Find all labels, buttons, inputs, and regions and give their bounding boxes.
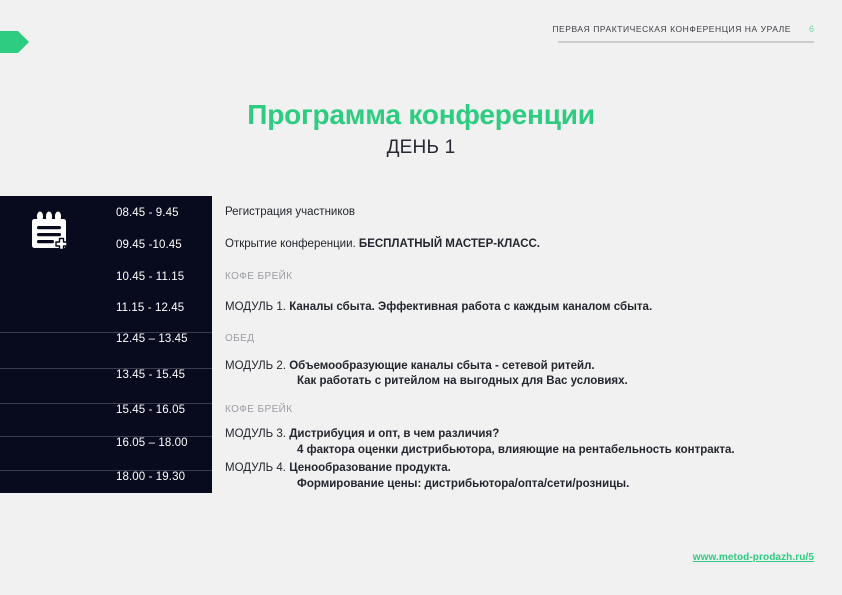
row-time: 09.45 -10.45	[0, 239, 212, 251]
row-description: МОДУЛЬ 1. Каналы сбыта. Эффективная рабо…	[212, 300, 830, 316]
row-time: 08.45 - 9.45	[0, 207, 212, 219]
row-second-line: Как работать с ритейлом на выгодных для …	[225, 374, 830, 390]
row-time: 13.45 - 15.45	[0, 368, 212, 381]
header-row: ПЕРВАЯ ПРАКТИЧЕСКАЯ КОНФЕРЕНЦИЯ НА УРАЛЕ…	[558, 24, 814, 34]
row-description: КОФЕ БРЕЙК	[212, 402, 830, 418]
table-row: 13.45 - 15.45 МОДУЛЬ 2. Объемообразующие…	[0, 354, 830, 394]
slide-header: ПЕРВАЯ ПРАКТИЧЕСКАЯ КОНФЕРЕНЦИЯ НА УРАЛЕ…	[558, 24, 814, 43]
table-row: 10.45 - 11.15 КОФЕ БРЕЙК	[0, 261, 830, 292]
table-row: 18.00 - 19.30 МОДУЛЬ 4. Ценообразование …	[0, 460, 830, 493]
row-plain: Регистрация участников	[225, 206, 355, 218]
table-row: 12.45 – 13.45 ОБЕД	[0, 323, 830, 354]
slide-page-number: 6	[809, 24, 814, 34]
title-block: Программа конференции ДЕНЬ 1	[0, 100, 842, 159]
row-strong: Дистрибуция и опт, в чем различия?	[289, 428, 499, 440]
row-lead: Открытие конференции.	[225, 238, 359, 250]
conference-name: ПЕРВАЯ ПРАКТИЧЕСКАЯ КОНФЕРЕНЦИЯ НА УРАЛЕ	[552, 24, 791, 34]
row-description: МОДУЛЬ 2. Объемообразующие каналы сбыта …	[212, 359, 830, 390]
row-lead: МОДУЛЬ 3.	[225, 428, 289, 440]
row-plain: КОФЕ БРЕЙК	[225, 404, 292, 415]
row-description: Регистрация участников	[212, 205, 830, 221]
table-row: 15.45 - 16.05 КОФЕ БРЕЙК	[0, 394, 830, 425]
row-lead: МОДУЛЬ 2.	[225, 360, 289, 372]
row-strong: БЕСПЛАТНЫЙ МАСТЕР-КЛАСС.	[359, 238, 540, 250]
page-subtitle: ДЕНЬ 1	[0, 137, 842, 159]
row-plain: ОБЕД	[225, 333, 254, 344]
page-title: Программа конференции	[0, 100, 842, 131]
row-description: МОДУЛЬ 3. Дистрибуция и опт, в чем разли…	[212, 427, 830, 458]
row-second-line: Формирование цены: дистрибьютора/опта/се…	[225, 477, 830, 493]
table-row: 16.05 – 18.00 МОДУЛЬ 3. Дистрибуция и оп…	[0, 425, 830, 460]
footer-website-link[interactable]: www.metod-prodazh.ru/5	[693, 552, 814, 563]
row-description: МОДУЛЬ 4. Ценообразование продукта.Форми…	[212, 461, 830, 492]
green-arrow-icon	[0, 27, 30, 57]
row-time: 16.05 – 18.00	[0, 436, 212, 449]
row-time: 12.45 – 13.45	[0, 332, 212, 345]
row-time: 15.45 - 16.05	[0, 403, 212, 416]
table-row: 09.45 -10.45 Открытие конференции. БЕСПЛ…	[0, 229, 830, 261]
row-strong: Объемообразующие каналы сбыта - сетевой …	[289, 360, 594, 372]
schedule-section: 08.45 - 9.45 Регистрация участников 09.4…	[0, 196, 830, 493]
header-divider	[558, 41, 814, 43]
row-description: Открытие конференции. БЕСПЛАТНЫЙ МАСТЕР-…	[212, 237, 830, 253]
row-lead: МОДУЛЬ 4.	[225, 462, 289, 474]
row-time: 18.00 - 19.30	[0, 470, 212, 483]
row-strong: Каналы сбыта. Эффективная работа с кажды…	[289, 301, 652, 313]
table-row: 11.15 - 12.45 МОДУЛЬ 1. Каналы сбыта. Эф…	[0, 292, 830, 323]
row-strong: Ценообразование продукта.	[289, 462, 451, 474]
schedule-rows: 08.45 - 9.45 Регистрация участников 09.4…	[0, 196, 830, 493]
row-time: 10.45 - 11.15	[0, 271, 212, 283]
table-row: 08.45 - 9.45 Регистрация участников	[0, 196, 830, 229]
row-plain: КОФЕ БРЕЙК	[225, 271, 292, 282]
row-description: КОФЕ БРЕЙК	[212, 269, 830, 285]
row-second-line: 4 фактора оценки дистрибьютора, влияющие…	[225, 443, 830, 459]
row-lead: МОДУЛЬ 1.	[225, 301, 289, 313]
row-description: ОБЕД	[212, 331, 830, 347]
row-time: 11.15 - 12.45	[0, 302, 212, 314]
